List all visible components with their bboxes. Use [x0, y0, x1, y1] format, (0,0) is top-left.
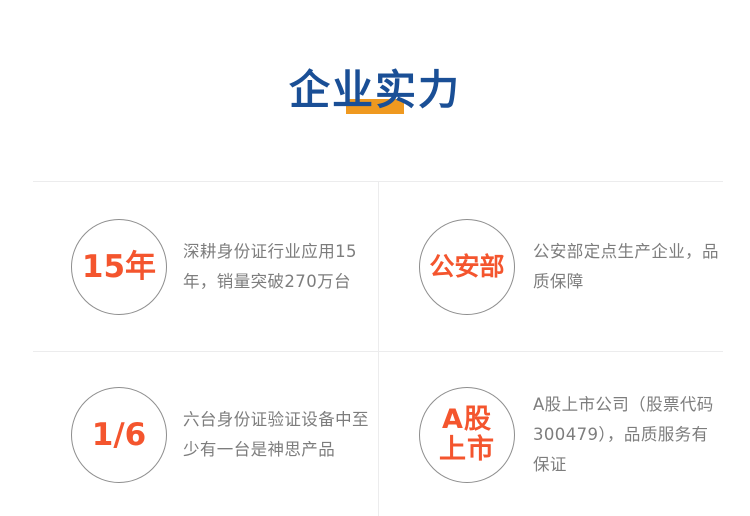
badge-circle-4: A股 上市	[419, 387, 515, 483]
strength-card-3: 1/6 六台身份证验证设备中至少有一台是神思产品	[33, 352, 378, 516]
badge-label-line1: A股	[442, 405, 492, 435]
strength-description-3: 六台身份证验证设备中至少有一台是神思产品	[183, 405, 373, 465]
badge-label: 1/6	[92, 418, 146, 452]
grid-row: 15年 深耕身份证行业应用15年，销量突破270万台 公安部 公安部定点生产企业…	[33, 182, 723, 351]
badge-label: 15年	[82, 250, 156, 284]
badge-circle-3: 1/6	[71, 387, 167, 483]
strength-description-2: 公安部定点生产企业，品质保障	[533, 237, 723, 297]
badge-circle-1: 15年	[71, 219, 167, 315]
strength-card-2: 公安部 公安部定点生产企业，品质保障	[378, 182, 723, 351]
strength-description-4: A股上市公司（股票代码300479），品质服务有保证	[533, 390, 723, 480]
strength-card-1: 15年 深耕身份证行业应用15年，销量突破270万台	[33, 182, 378, 351]
strengths-grid: 15年 深耕身份证行业应用15年，销量突破270万台 公安部 公安部定点生产企业…	[33, 181, 723, 516]
strength-card-4: A股 上市 A股上市公司（股票代码300479），品质服务有保证	[378, 352, 723, 516]
heading-inner: 企业实力	[289, 62, 461, 118]
badge-circle-2: 公安部	[419, 219, 515, 315]
page-title: 企业实力	[289, 66, 461, 114]
grid-row: 1/6 六台身份证验证设备中至少有一台是神思产品 A股 上市 A股上市公司（股票…	[33, 351, 723, 516]
badge-label-line2: 上市	[439, 435, 495, 465]
badge-label: 公安部	[429, 253, 504, 281]
strength-description-1: 深耕身份证行业应用15年，销量突破270万台	[183, 237, 373, 297]
section-heading: 企业实力	[0, 62, 750, 118]
page-root: 企业实力 15年 深耕身份证行业应用15年，销量突破270万台 公安部 公安部定…	[0, 0, 750, 516]
